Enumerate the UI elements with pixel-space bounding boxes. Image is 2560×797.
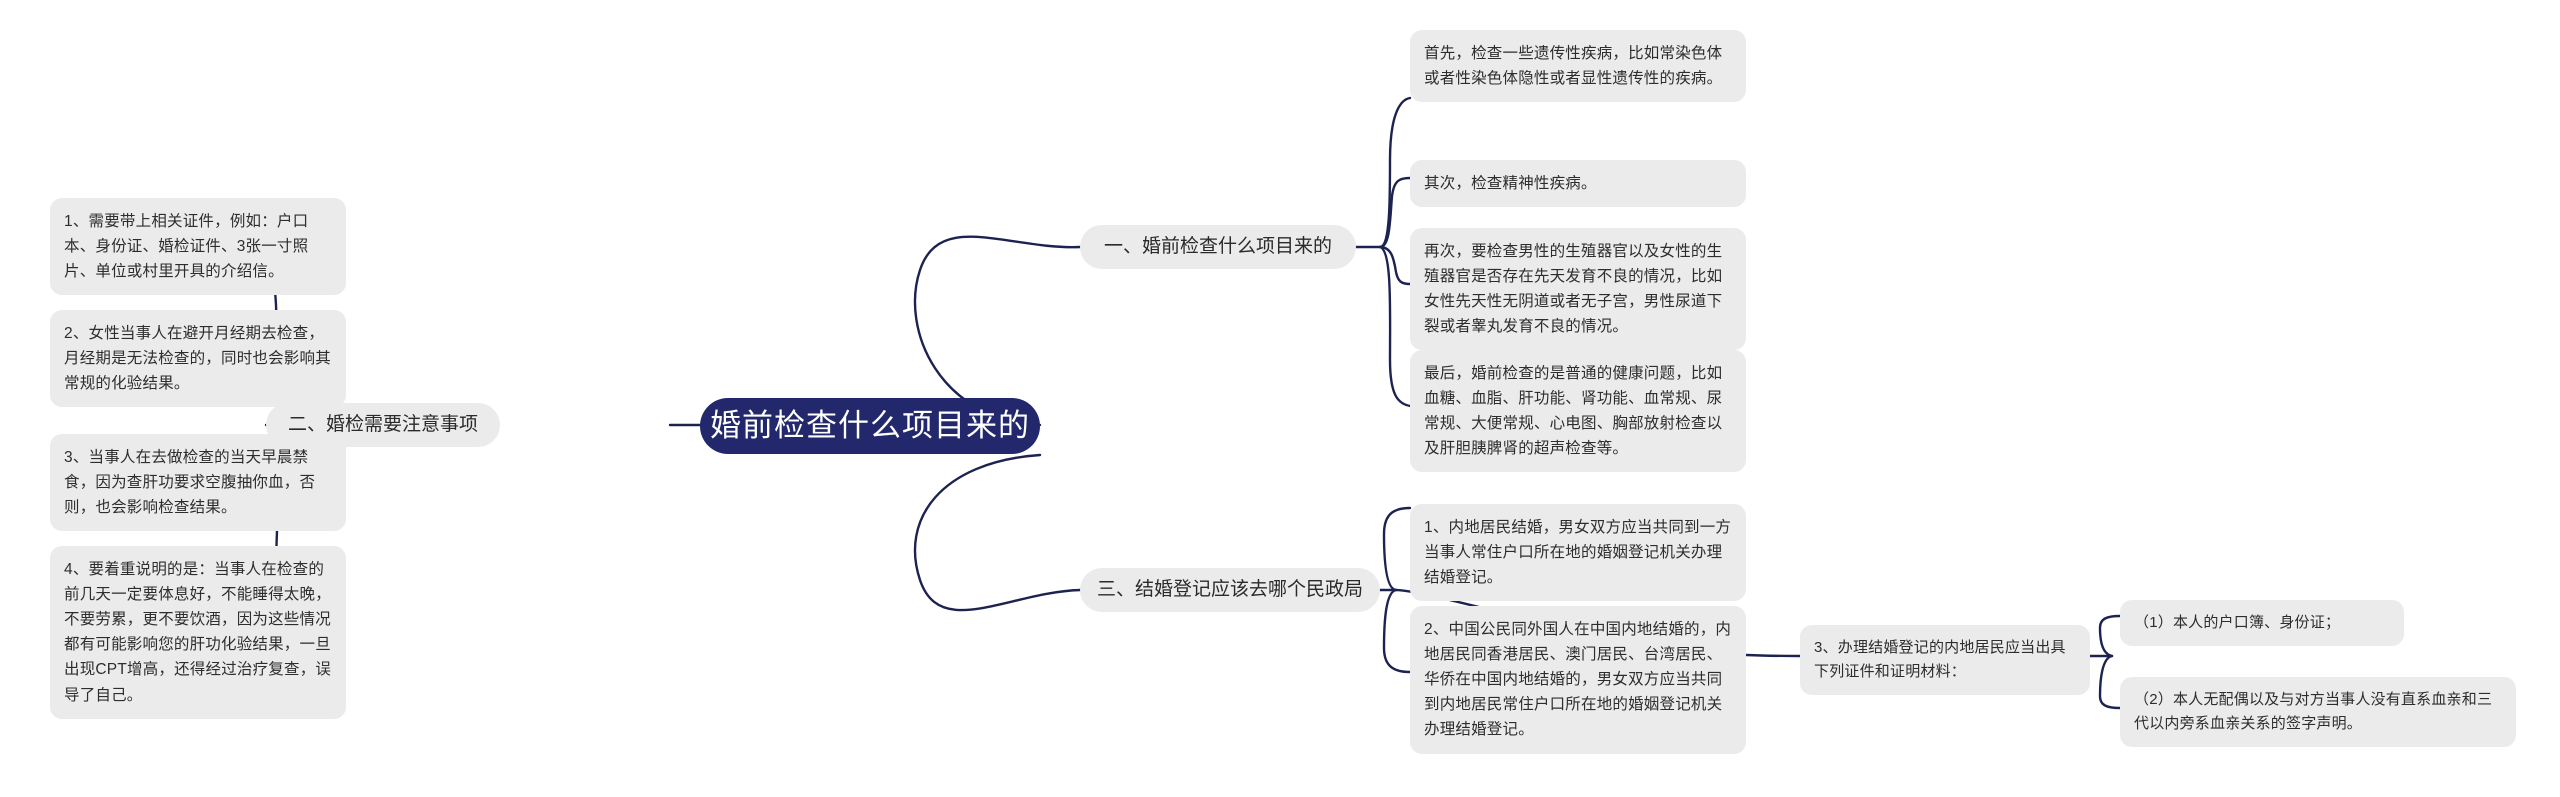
leaf-node-b3-3-child-2-text: （2）本人无配偶以及与对方当事人没有直系血亲和三代以内旁系血亲关系的签字声明。	[2134, 691, 2492, 732]
leaf-node-b3-3-child-2[interactable]: （2）本人无配偶以及与对方当事人没有直系血亲和三代以内旁系血亲关系的签字声明。	[2120, 677, 2516, 747]
leaf-node-b3-3-child-1-text: （1）本人的户口簿、身份证；	[2134, 614, 2340, 631]
leaf-node-b3-3-child-1[interactable]: （1）本人的户口簿、身份证；	[2120, 600, 2404, 646]
connector-root-branch1	[915, 237, 1080, 425]
leaf-node-b2-1[interactable]: 1、需要带上相关证件，例如：户口本、身份证、婚检证件、3张一寸照片、单位或村里开…	[50, 198, 346, 295]
leaf-node-b1-3-text: 再次，要检查男性的生殖器官以及女性的生殖器官是否存在先天发育不良的情况，比如女性…	[1424, 243, 1722, 335]
connector-leaf3-child1	[2100, 616, 2120, 656]
leaf-node-b2-2-text: 2、女性当事人在避开月经期去检查，月经期是无法检查的，同时也会影响其常规的化验结…	[64, 325, 331, 392]
leaf-node-b2-2[interactable]: 2、女性当事人在避开月经期去检查，月经期是无法检查的，同时也会影响其常规的化验结…	[50, 310, 346, 407]
leaf-node-b3-2[interactable]: 2、中国公民同外国人在中国内地结婚的，内地居民同香港居民、澳门居民、台湾居民、华…	[1410, 606, 1746, 754]
leaf-node-b3-3[interactable]: 3、办理结婚登记的内地居民应当出具下列证件和证明材料：	[1800, 625, 2090, 695]
leaf-node-b3-1-text: 1、内地居民结婚，男女双方应当共同到一方当事人常住户口所在地的婚姻登记机关办理结…	[1424, 519, 1731, 586]
root-node-label: 婚前检查什么项目来的	[710, 407, 1030, 444]
branch-node-1-label: 一、婚前检查什么项目来的	[1104, 235, 1332, 259]
connector-leaf3-child2	[2100, 656, 2120, 708]
leaf-node-b2-1-text: 1、需要带上相关证件，例如：户口本、身份证、婚检证件、3张一寸照片、单位或村里开…	[64, 213, 308, 280]
root-node[interactable]: 婚前检查什么项目来的	[700, 398, 1040, 454]
leaf-node-b3-3-text: 3、办理结婚登记的内地居民应当出具下列证件和证明材料：	[1814, 639, 2066, 680]
leaf-node-b1-4[interactable]: 最后，婚前检查的是普通的健康问题，比如血糖、血脂、肝功能、肾功能、血常规、尿常规…	[1410, 350, 1746, 472]
leaf-node-b1-1[interactable]: 首先，检查一些遗传性疾病，比如常染色体或者性染色体隐性或者显性遗传性的疾病。	[1410, 30, 1746, 102]
connector-branch1-leaf1	[1380, 98, 1410, 247]
leaf-node-b1-2-text: 其次，检查精神性疾病。	[1424, 175, 1597, 192]
branch-node-1[interactable]: 一、婚前检查什么项目来的	[1080, 225, 1356, 269]
connector-branch1-leaf2	[1380, 178, 1410, 247]
connector-branch3-leaf2	[1384, 590, 1410, 672]
branch-node-3-label: 三、结婚登记应该去哪个民政局	[1097, 578, 1363, 602]
leaf-node-b1-4-text: 最后，婚前检查的是普通的健康问题，比如血糖、血脂、肝功能、肾功能、血常规、尿常规…	[1424, 365, 1722, 457]
connector-branch1-leaf3	[1380, 247, 1410, 284]
leaf-node-b3-2-text: 2、中国公民同外国人在中国内地结婚的，内地居民同香港居民、澳门居民、台湾居民、华…	[1424, 621, 1731, 738]
leaf-node-b1-1-text: 首先，检查一些遗传性疾病，比如常染色体或者性染色体隐性或者显性遗传性的疾病。	[1424, 45, 1722, 87]
leaf-node-b2-4-text: 4、要着重说明的是：当事人在检查的前几天一定要体息好，不能睡得太晚，不要劳累，更…	[64, 561, 331, 704]
leaf-node-b3-1[interactable]: 1、内地居民结婚，男女双方应当共同到一方当事人常住户口所在地的婚姻登记机关办理结…	[1410, 504, 1746, 601]
connector-root-branch3	[915, 455, 1080, 610]
connector-branch3-leaf1	[1384, 508, 1410, 590]
leaf-node-b2-4[interactable]: 4、要着重说明的是：当事人在检查的前几天一定要体息好，不能睡得太晚，不要劳累，更…	[50, 546, 346, 719]
connector-branch1-leaf4	[1380, 247, 1410, 406]
leaf-node-b1-2[interactable]: 其次，检查精神性疾病。	[1410, 160, 1746, 207]
branch-node-3[interactable]: 三、结婚登记应该去哪个民政局	[1080, 568, 1380, 612]
leaf-node-b1-3[interactable]: 再次，要检查男性的生殖器官以及女性的生殖器官是否存在先天发育不良的情况，比如女性…	[1410, 228, 1746, 350]
leaf-node-b2-3[interactable]: 3、当事人在去做检查的当天早晨禁食，因为查肝功要求空腹抽你血，否则，也会影响检查…	[50, 434, 346, 531]
mindmap-canvas: 婚前检查什么项目来的 一、婚前检查什么项目来的 首先，检查一些遗传性疾病，比如常…	[0, 0, 2560, 797]
leaf-node-b2-3-text: 3、当事人在去做检查的当天早晨禁食，因为查肝功要求空腹抽你血，否则，也会影响检查…	[64, 449, 315, 516]
